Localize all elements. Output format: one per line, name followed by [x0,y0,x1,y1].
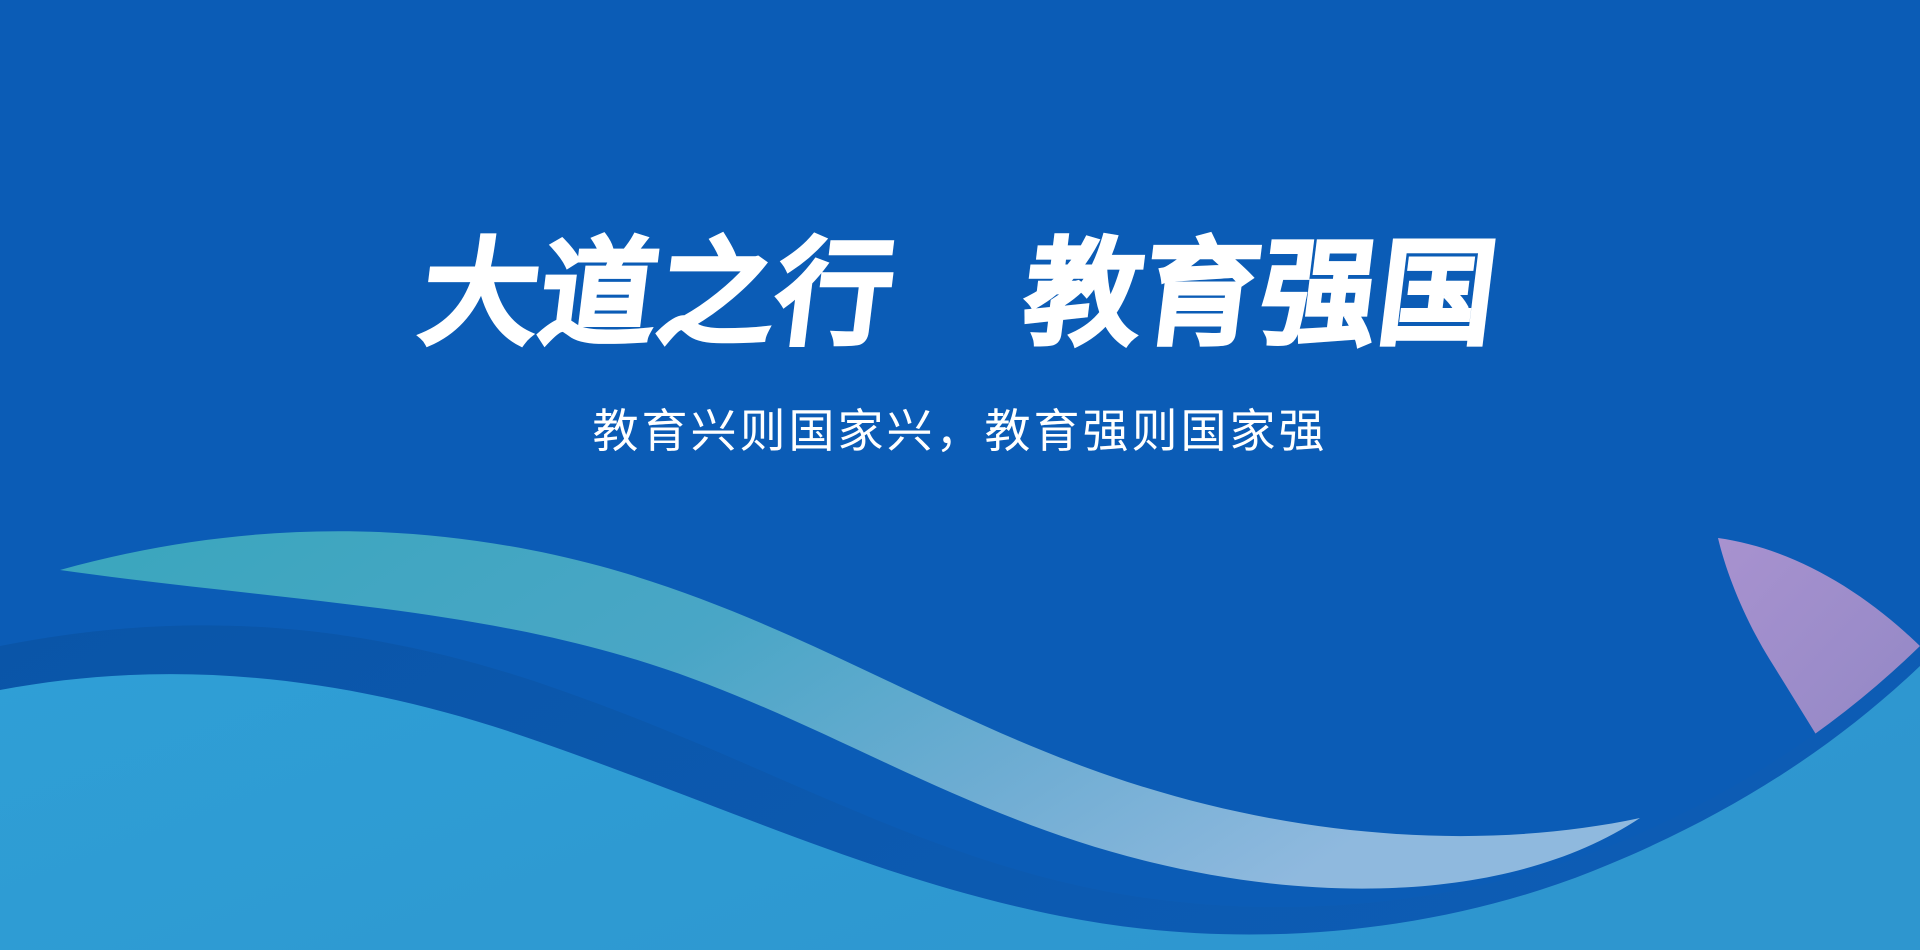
page-subtitle: 教育兴则国家兴，教育强则国家强 [0,404,1920,459]
page-title-part-two: 教育强国 [1018,237,1504,353]
education-banner: 大道之行 教育强国 教育兴则国家兴，教育强则国家强 [0,0,1920,950]
page-title: 大道之行 教育强国 [0,237,1920,353]
wave-decoration [0,0,1920,950]
page-title-part-one: 大道之行 [415,237,901,353]
